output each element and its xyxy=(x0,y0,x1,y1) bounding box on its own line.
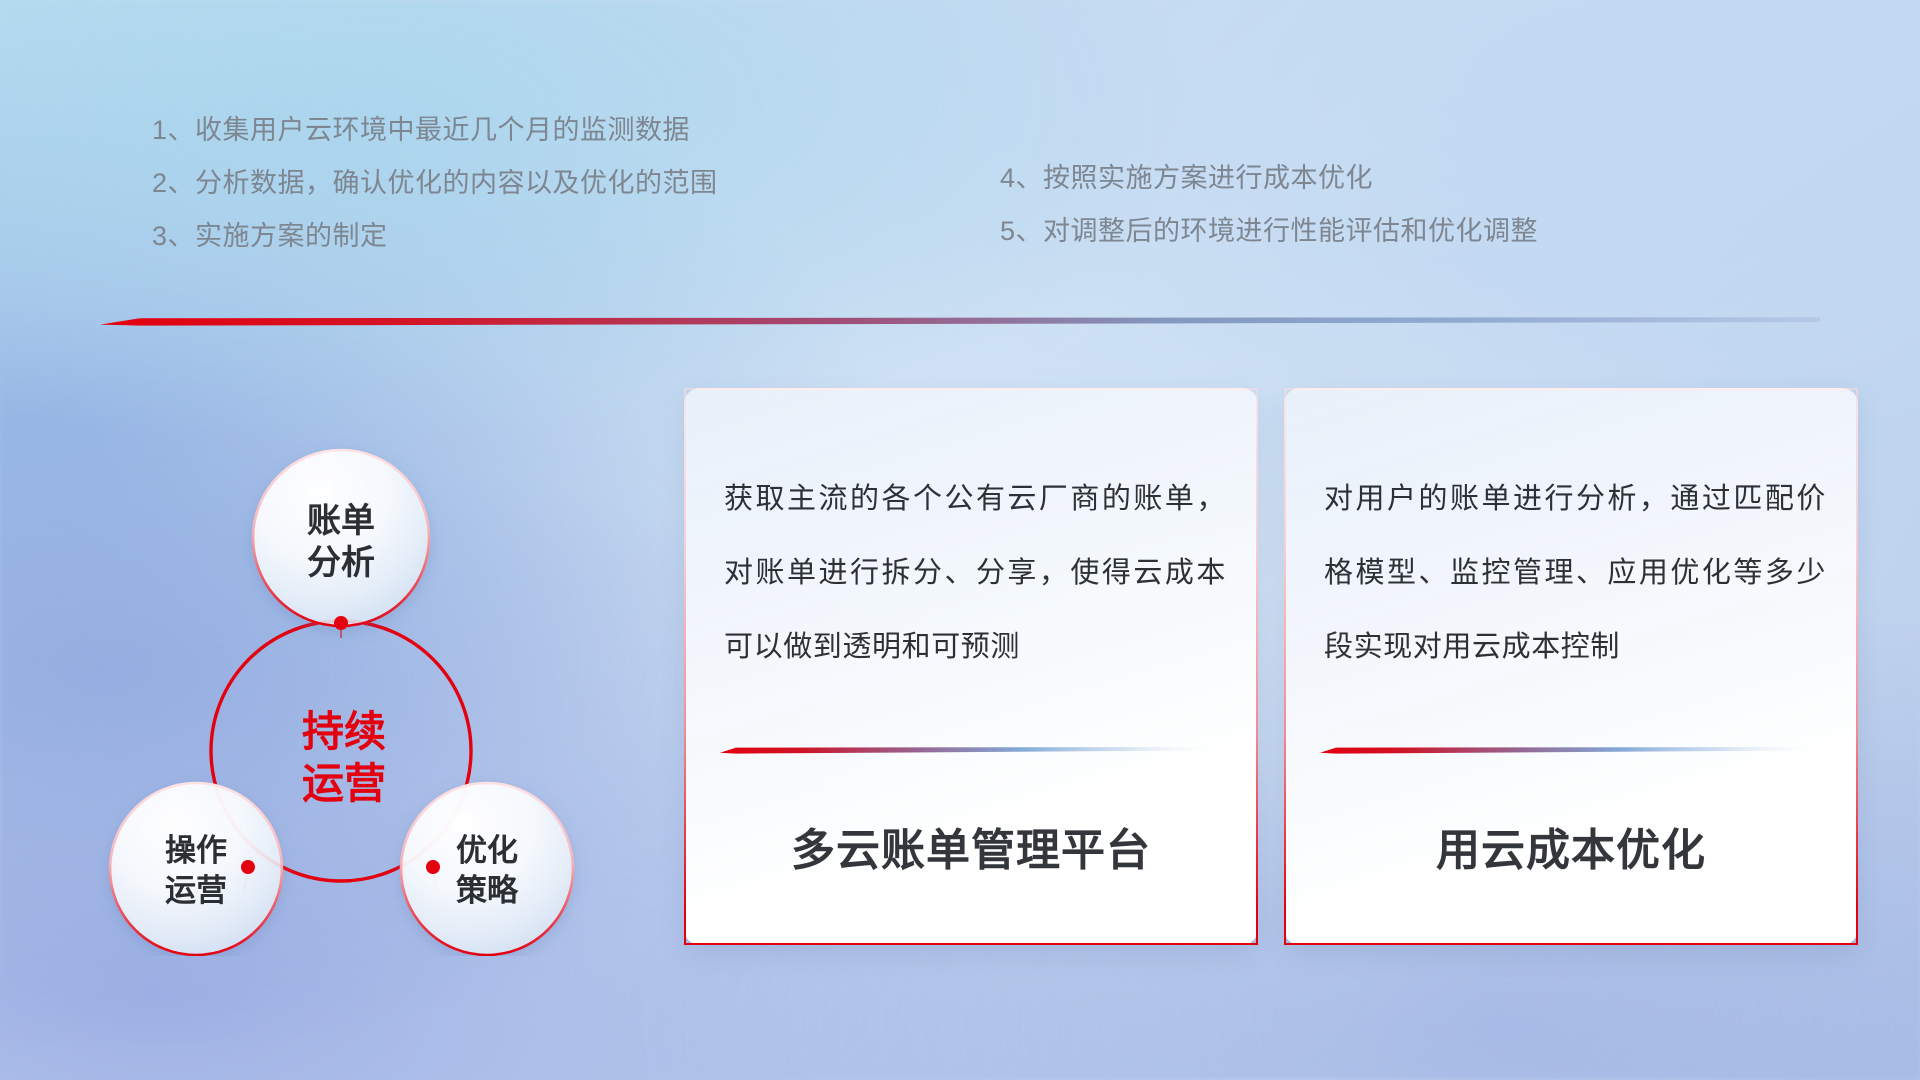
venn-junction-dot xyxy=(334,616,348,630)
venn-junction-dot xyxy=(426,860,440,874)
venn-center-label-line1: 持续 xyxy=(302,708,386,755)
venn-junction-dot xyxy=(241,860,255,874)
feature-card-cloud-cost-optimization[interactable]: 对用户的账单进行分析，通过匹配价格模型、监控管理、应用优化等多少段实现对用云成本… xyxy=(1284,388,1858,945)
venn-bubble-label: 运营 xyxy=(165,873,227,908)
venn-bubble-operations: 操作 运营 xyxy=(110,783,282,955)
card-title: 多云账单管理平台 xyxy=(686,814,1256,878)
step-item: 1、收集用户云环境中最近几个月的监测数据 xyxy=(152,104,892,157)
venn-bubble-label: 账单 xyxy=(307,502,375,540)
feature-card-multicloud-billing[interactable]: 获取主流的各个公有云厂商的账单，对账单进行拆分、分享，使得云成本可以做到透明和可… xyxy=(684,388,1258,945)
step-item: 3、实施方案的制定 xyxy=(152,210,892,263)
card-body-text: 获取主流的各个公有云厂商的账单，对账单进行拆分、分享，使得云成本可以做到透明和可… xyxy=(724,462,1226,684)
venn-bubble-billing: 账单 分析 xyxy=(253,450,429,626)
header-divider xyxy=(100,316,1820,326)
step-item: 2、分析数据，确认优化的内容以及优化的范围 xyxy=(152,157,892,210)
step-item: 4、按照实施方案进行成本优化 xyxy=(1000,152,1760,205)
venn-bubble-label: 优化 xyxy=(456,833,518,868)
continuous-operation-diagram: 账单 分析 操作 运营 优化 策略 持续 运营 xyxy=(96,346,656,956)
steps-left-column: 1、收集用户云环境中最近几个月的监测数据 2、分析数据，确认优化的内容以及优化的… xyxy=(152,104,892,263)
venn-bubble-label: 操作 xyxy=(165,833,227,868)
card-body-text: 对用户的账单进行分析，通过匹配价格模型、监控管理、应用优化等多少段实现对用云成本… xyxy=(1324,462,1826,684)
step-item: 5、对调整后的环境进行性能评估和优化调整 xyxy=(1000,205,1760,258)
venn-center-label-line2: 运营 xyxy=(302,760,386,807)
card-title: 用云成本优化 xyxy=(1286,814,1856,878)
card-divider xyxy=(1320,746,1824,754)
venn-bubble-label: 策略 xyxy=(456,873,519,908)
venn-bubble-label: 分析 xyxy=(307,544,375,582)
card-divider xyxy=(720,746,1224,754)
steps-right-column: 4、按照实施方案进行成本优化 5、对调整后的环境进行性能评估和优化调整 xyxy=(1000,152,1760,258)
